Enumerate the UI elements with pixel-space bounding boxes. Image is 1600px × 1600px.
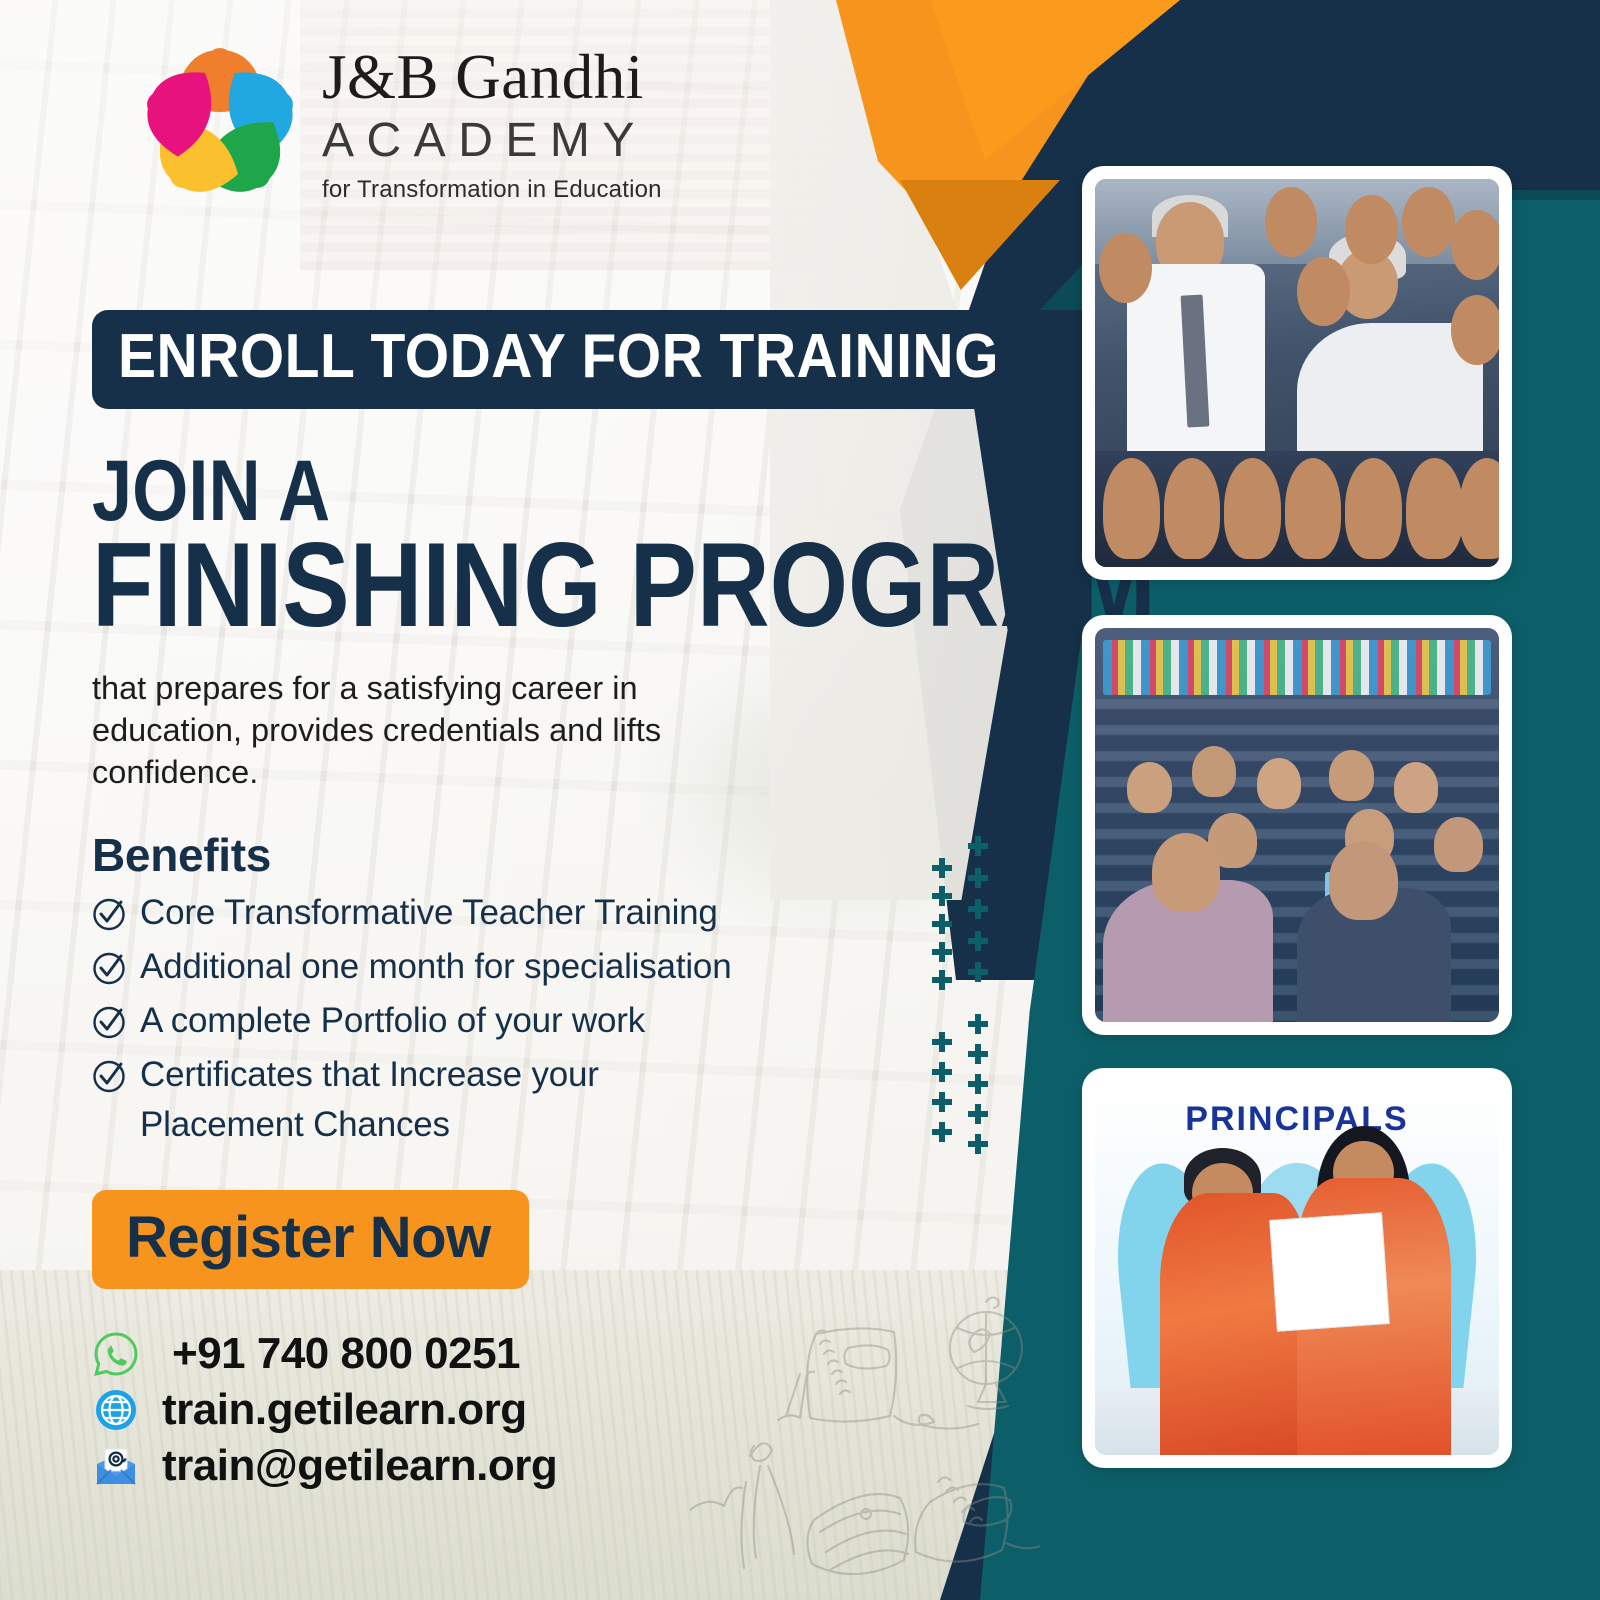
poster-canvas: J&B Gandhi ACADEMY for Transformation in…	[0, 0, 1600, 1600]
photo-2-content	[1095, 628, 1499, 1022]
eyebrow-text: ENROLL TODAY FOR TRAINING	[118, 328, 999, 387]
logo-tagline: for Transformation in Education	[322, 176, 662, 204]
whatsapp-number: +91 740 800 0251	[172, 1329, 520, 1379]
logo-name: J&B Gandhi	[322, 46, 662, 109]
benefit-item: Additional one month for specialisation	[92, 942, 992, 992]
circled-check-icon	[92, 1059, 126, 1093]
teacher-audience-photo	[1082, 615, 1512, 1035]
benefit-label: Additional one month for specialisation	[140, 942, 731, 992]
register-now-button[interactable]: Register Now	[92, 1190, 529, 1289]
benefit-item: Certificates that Increase your Placemen…	[92, 1050, 992, 1150]
principals-award-photo: PRINCIPALS	[1082, 1068, 1512, 1468]
benefit-label: Core Transformative Teacher Training	[140, 888, 718, 938]
photo-3-content: PRINCIPALS	[1095, 1081, 1499, 1455]
globe-icon	[92, 1386, 140, 1434]
circled-check-icon	[92, 897, 126, 931]
headline-line-2: FINISHING PROGRAM	[92, 527, 848, 645]
benefit-item: Core Transformative Teacher Training	[92, 888, 992, 938]
contact-row-website[interactable]: train.getilearn.org	[92, 1385, 992, 1435]
email-icon	[92, 1442, 140, 1490]
logo-subtitle: ACADEMY	[322, 113, 662, 168]
contact-row-email[interactable]: train@getilearn.org	[92, 1441, 992, 1491]
email-address: train@getilearn.org	[162, 1441, 557, 1491]
principals-caption: PRINCIPALS	[1095, 1100, 1499, 1139]
benefits-heading: Benefits	[92, 828, 992, 882]
pinwheel-people-logo-icon	[140, 38, 300, 208]
circled-check-icon	[92, 951, 126, 985]
main-content: ENROLL TODAY FOR TRAINING JOIN A FINISHI…	[92, 310, 992, 1491]
benefit-item: A complete Portfolio of your work	[92, 996, 992, 1046]
benefit-label: Certificates that Increase your Placemen…	[140, 1050, 700, 1150]
brand-logo: J&B Gandhi ACADEMY for Transformation in…	[140, 38, 662, 208]
circled-check-icon	[92, 1005, 126, 1039]
register-now-label: Register Now	[126, 1205, 491, 1270]
benefits-list: Core Transformative Teacher Training Add…	[92, 888, 992, 1150]
contact-row-whatsapp[interactable]: +91 740 800 0251	[92, 1329, 992, 1379]
website-url: train.getilearn.org	[162, 1385, 527, 1435]
whatsapp-icon	[92, 1330, 140, 1378]
eyebrow-banner: ENROLL TODAY FOR TRAINING	[92, 310, 1106, 409]
benefit-label: A complete Portfolio of your work	[140, 996, 645, 1046]
contact-block: +91 740 800 0251 train.getilearn.org	[92, 1329, 992, 1491]
founders-with-students-photo	[1082, 166, 1512, 580]
photo-1-content	[1095, 179, 1499, 567]
lede-paragraph: that prepares for a satisfying career in…	[92, 667, 732, 794]
